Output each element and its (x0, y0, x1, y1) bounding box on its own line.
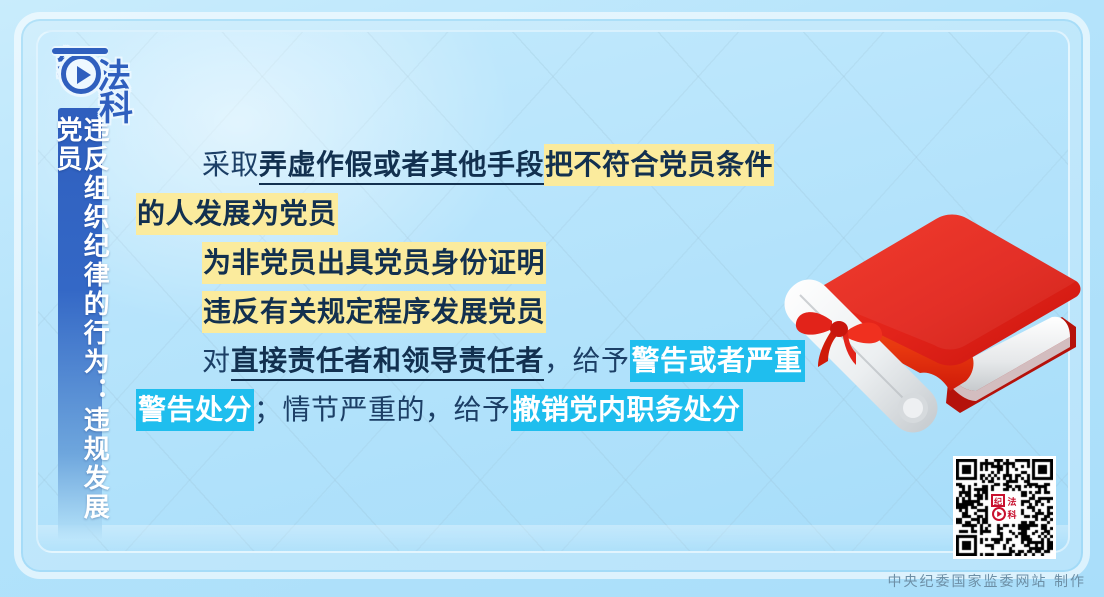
vertical-category-banner: 违反组织纪律的行为：违规发展党员 (58, 108, 102, 540)
ribbon-knot (830, 321, 848, 337)
footer-credit: 中央纪委国家监委网站 制作 (888, 571, 1086, 591)
line1-plain-prefix: 采取 (202, 148, 259, 181)
line4-highlight: 违反有关规定程序发展党员 (202, 291, 546, 333)
line2-highlight: 的人发展为党员 (136, 193, 338, 235)
text-line-2: 的人发展为党员 (136, 189, 826, 238)
line6-highlight-a: 警告处分 (136, 389, 254, 431)
text-line-1: 采取弄虚作假或者其他手段把不符合党员条件 (136, 140, 826, 189)
logo-char-ke: 科 (99, 92, 133, 126)
poster-canvas: 纪 法 科 违反组织纪律的行为：违规发展党员 采取弄虚作假或者其他手段把不符合党… (0, 0, 1104, 597)
qr-center-logo: 纪 法 科 (990, 493, 1020, 523)
line5-plain-mid: ，给予 (544, 344, 630, 377)
line5-plain-prefix: 对 (202, 344, 231, 377)
bottom-band (38, 525, 1068, 551)
text-line-4: 违反有关规定程序发展党员 (136, 287, 826, 336)
qr-code[interactable]: 纪 法 科 (953, 456, 1056, 559)
line3-highlight: 为非党员出具党员身份证明 (202, 242, 546, 284)
main-text-block: 采取弄虚作假或者其他手段把不符合党员条件 的人发展为党员 为非党员出具党员身份证… (136, 140, 826, 434)
text-line-3: 为非党员出具党员身份证明 (136, 238, 826, 287)
line1-highlight: 把不符合党员条件 (544, 144, 774, 186)
line1-underlined: 弄虚作假或者其他手段 (259, 148, 544, 185)
text-line-6: 警告处分；情节严重的，给予撤销党内职务处分 (136, 385, 826, 434)
vertical-banner-text: 违反组织纪律的行为：违规发展党员 (53, 116, 108, 540)
brand-logo: 纪 法 科 (55, 48, 153, 126)
play-icon (77, 66, 91, 84)
line5-highlight: 警告或者严重 (630, 340, 805, 382)
svg-text:法: 法 (1007, 496, 1016, 508)
svg-text:纪: 纪 (994, 496, 1002, 506)
svg-text:科: 科 (1007, 509, 1016, 521)
text-line-5: 对直接责任者和领导责任者，给予警告或者严重 (136, 336, 826, 385)
line6-highlight-b: 撤销党内职务处分 (511, 389, 743, 431)
line6-plain-mid: ；情节严重的，给予 (254, 393, 511, 426)
line5-underlined: 直接责任者和领导责任者 (231, 344, 545, 381)
